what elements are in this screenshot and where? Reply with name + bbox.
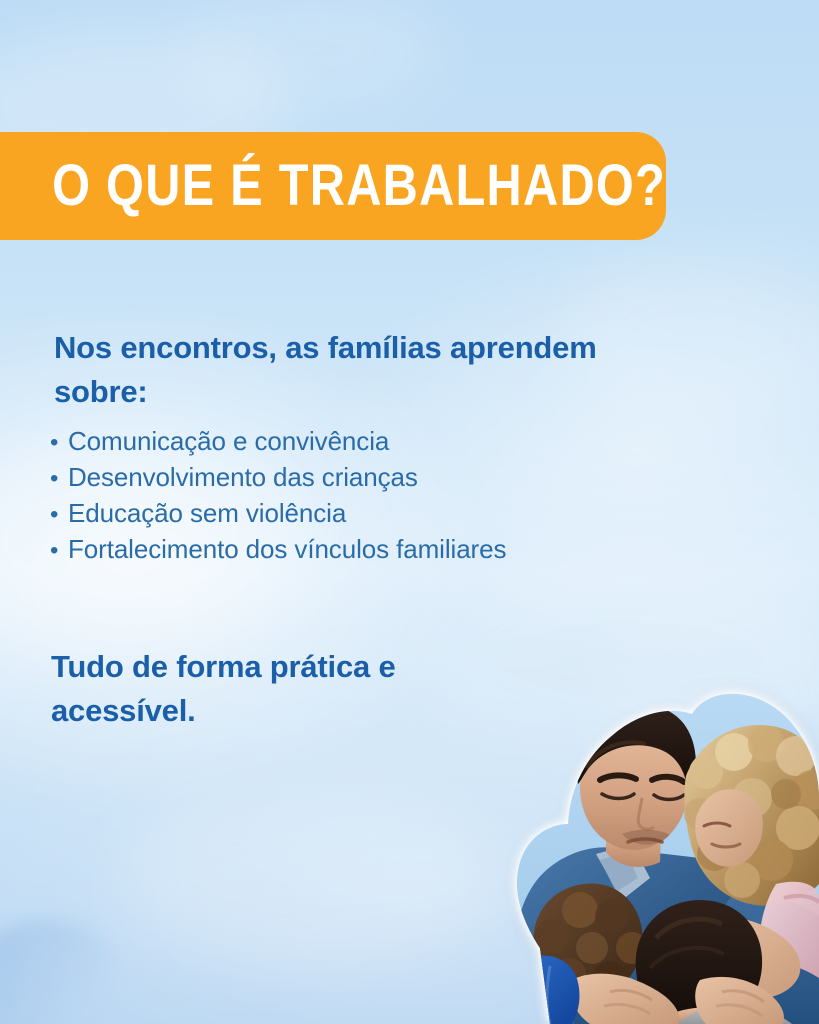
list-item: • Desenvolvimento das crianças xyxy=(50,464,700,500)
family-photo xyxy=(400,648,819,1024)
list-item-label: Comunicação e convivência xyxy=(68,428,700,454)
list-item: • Comunicação e convivência xyxy=(50,428,700,464)
bullet-dot-icon: • xyxy=(50,503,68,527)
family-photo-illustration xyxy=(400,648,819,1024)
title-banner: O QUE É TRABALHADO? xyxy=(0,132,666,240)
list-item-label: Educação sem violência xyxy=(68,500,700,526)
bullet-dot-icon: • xyxy=(50,467,68,491)
photo-clip-group xyxy=(400,648,819,1024)
topics-list: • Comunicação e convivência • Desenvolvi… xyxy=(50,428,700,572)
list-item-label: Desenvolvimento das crianças xyxy=(68,464,700,490)
list-item: • Fortalecimento dos vínculos familiares xyxy=(50,536,700,572)
list-item: • Educação sem violência xyxy=(50,500,700,536)
headline-text: Nos encontros, as famílias aprendem sobr… xyxy=(54,326,614,414)
list-item-label: Fortalecimento dos vínculos familiares xyxy=(68,536,700,562)
poster-canvas: O QUE É TRABALHADO? Nos encontros, as fa… xyxy=(0,0,819,1024)
bullet-dot-icon: • xyxy=(50,431,68,455)
page-title: O QUE É TRABALHADO? xyxy=(0,157,666,215)
bullet-dot-icon: • xyxy=(50,539,68,563)
